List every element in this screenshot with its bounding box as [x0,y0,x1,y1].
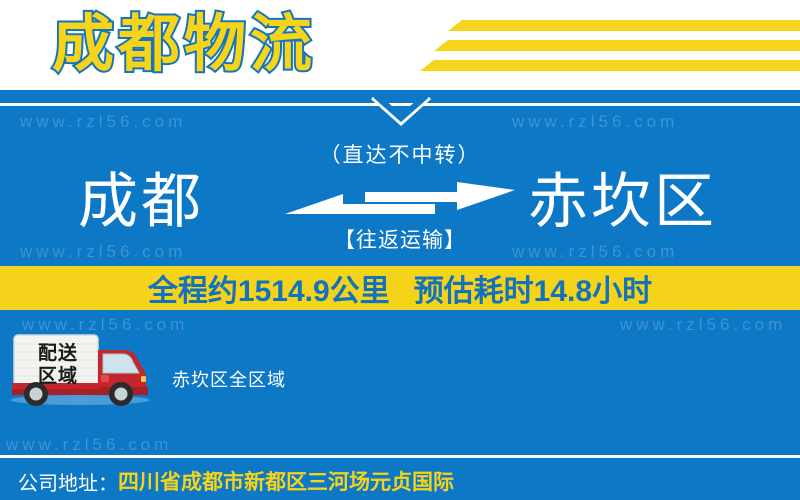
delivery-area-row: 配送 区域 赤坎区全区域 [0,330,800,410]
decorative-stripes [400,12,800,82]
footer-address-bar: 公司地址： 四川省成都市新都区三河场元贞国际 [0,462,800,500]
poster-body: www.rzl56.comwww.rzl56.comwww.rzl56.comw… [0,90,800,500]
metrics-band: 全程约1514.9公里 预估耗时14.8小时 [0,266,800,310]
distance-text: 全程约1514.9公里 [148,266,390,310]
destination-city: 赤坎区 [528,162,717,242]
poster-header: 成都物流 [0,0,800,90]
divider-line-bottom [0,455,800,458]
round-trip-note: 【往返运输】 [270,226,530,256]
stripe-1 [448,20,800,31]
chevron-down-icon [370,96,432,130]
stripe-3 [420,60,800,71]
bidirectional-arrow-icon [285,180,515,222]
footer-address: 四川省成都市新都区三河场元贞国际 [118,466,454,496]
logistics-route-poster: 成都物流 www.rzl56.comwww.rzl56.comwww.rzl56… [0,0,800,500]
truck-box-line-1: 配送 [24,342,92,365]
coverage-text: 赤坎区全区域 [172,366,286,392]
route-middle: （直达不中转） 【往返运输】 [270,140,530,256]
truck-box-line-2: 区域 [24,365,92,388]
watermark-1: www.rzl56.com [20,112,186,132]
watermark-2: www.rzl56.com [512,112,678,132]
stripe-2 [434,40,800,51]
footer-label: 公司地址： [18,467,118,496]
truck-box-label: 配送 区域 [24,342,92,388]
brand-title: 成都物流 [52,4,316,86]
watermark-7: www.rzl56.com [6,435,172,455]
delivery-truck-icon: 配送 区域 [8,330,158,408]
duration-text: 预估耗时14.8小时 [414,266,652,310]
direct-note: （直达不中转） [270,140,530,172]
origin-city: 成都 [78,162,204,242]
route-row: 成都 （直达不中转） 【往返运输】 赤坎区 [0,140,800,280]
